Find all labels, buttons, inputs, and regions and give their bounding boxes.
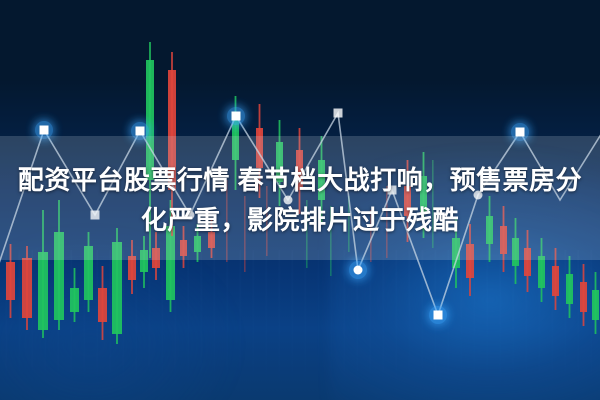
stock-news-banner: 配资平台股票行情 春节档大战打响，预售票房分化严重，影院排片过于残酷	[0, 0, 600, 400]
vertical-streaks	[0, 250, 600, 400]
page-title: 配资平台股票行情 春节档大战打响，预售票房分化严重，影院排片过于残酷	[0, 160, 600, 240]
headline-line-1: 配资平台股票行情 春节档大战打响，预售票房分	[18, 165, 582, 195]
headline-line-2: 化严重，影院排片过于残酷	[141, 205, 459, 235]
